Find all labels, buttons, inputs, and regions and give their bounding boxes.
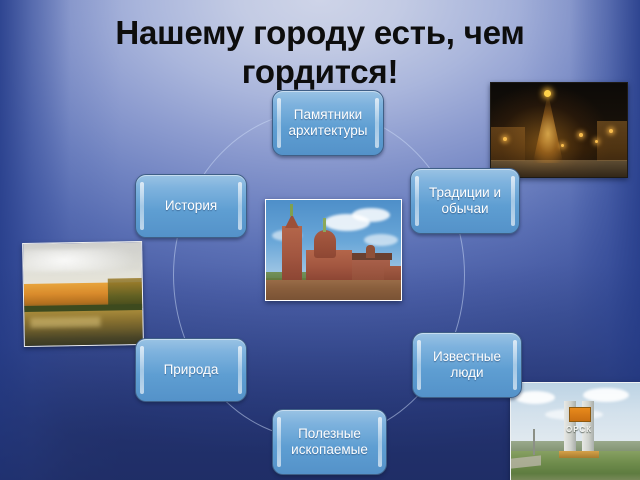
church-wall [384, 266, 401, 280]
diagram-node-label: Памятники архитектуры [277, 107, 380, 140]
autumn-clouds [23, 248, 141, 272]
diagram-node-history[interactable]: История [135, 174, 247, 238]
autumn-river-scene [23, 242, 143, 346]
church-photo [265, 199, 402, 301]
slide-title: Нашему городу есть, чем гордится! [0, 14, 640, 92]
diagram-node-traditions[interactable]: Традиции и обычаи [410, 168, 520, 234]
autumn-river-photo [22, 241, 144, 347]
street-light-icon [561, 144, 564, 147]
orsk-cloud-icon [583, 388, 629, 402]
diagram-node-architecture[interactable]: Памятники архитектуры [272, 90, 384, 156]
stele-city-name: ОРСК [559, 425, 599, 434]
orsk-cloud-icon [515, 391, 555, 404]
orsk-stele-scene: ОРСК [511, 383, 640, 480]
orsk-stele-photo: ОРСК [510, 382, 640, 480]
street-light-icon [503, 137, 507, 141]
night-building-left [491, 127, 525, 161]
orsk-utility-pole [533, 429, 535, 455]
diagram-node-famous-people[interactable]: Известные люди [412, 332, 522, 398]
diagram-node-nature[interactable]: Природа [135, 338, 247, 402]
newyear-tree-photo [490, 82, 628, 178]
diagram-node-label: Полезные ископаемые [279, 426, 380, 459]
church-dome [314, 230, 336, 258]
tree-star-icon [544, 90, 551, 97]
diagram-node-label: Известные люди [421, 349, 513, 382]
water-reflection [30, 317, 100, 328]
church-turret [366, 245, 375, 258]
church-photo-scene [266, 200, 401, 300]
newyear-tree-scene [491, 83, 627, 177]
diagram-node-label: История [153, 198, 229, 214]
stele-base [559, 451, 599, 458]
river-water [24, 310, 143, 346]
city-coat-of-arms-icon [569, 407, 591, 422]
street-light-icon [579, 133, 583, 137]
church-bell-tower [282, 226, 302, 280]
church-tower-cross-icon [290, 204, 293, 216]
church-ground [266, 278, 401, 300]
church-dome-cross-icon [323, 218, 326, 232]
diagram-node-label: Традиции и обычаи [417, 185, 513, 218]
street-light-icon [595, 140, 598, 143]
night-building-right [597, 121, 627, 161]
diagram-node-minerals[interactable]: Полезные ископаемые [272, 409, 387, 475]
church-cloud-icon [352, 208, 390, 222]
diagram-node-label: Природа [152, 362, 231, 378]
slide-canvas: Нашему городу есть, чем гордится! [0, 0, 640, 480]
street-light-icon [609, 129, 613, 133]
